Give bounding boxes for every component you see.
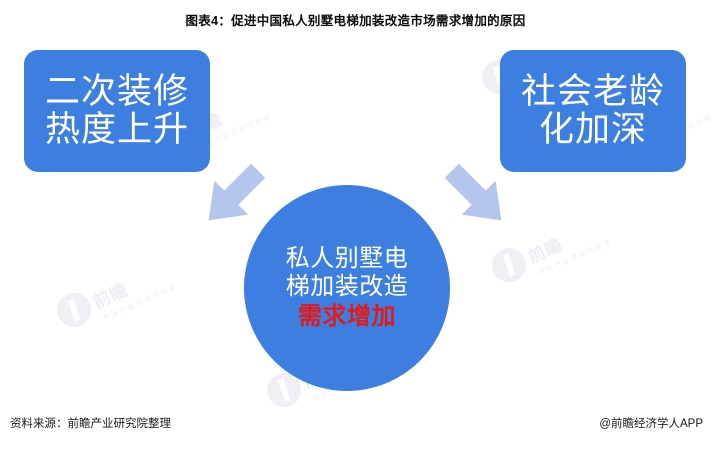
cause-box-right-line-2: 化加深 — [539, 111, 647, 149]
watermark-main-text: 前瞻 — [90, 280, 131, 312]
page-title: 图表4：促进中国私人别墅电梯加装改造市场需求增加的原因 — [0, 10, 711, 29]
watermark: 前瞻 中国产业咨询领跑者 — [52, 252, 180, 340]
center-line-1: 私人别墅电 — [286, 245, 409, 273]
watermark-logo-icon — [52, 288, 97, 333]
watermark: 前瞻 中国产业咨询领跑者 — [487, 207, 615, 295]
arrow-down-right-icon — [192, 160, 272, 235]
arrow-down-left-icon — [438, 160, 518, 235]
brand-credit: @前瞻经济学人APP — [599, 415, 703, 431]
watermark-main-text: 前瞻 — [525, 235, 566, 267]
diagram-canvas: 图表4：促进中国私人别墅电梯加装改造市场需求增加的原因 前瞻 中国产业咨询领跑者… — [0, 0, 711, 453]
watermark-sub-text: 中国产业咨询领跑者 — [536, 236, 614, 278]
cause-box-right: 社会老龄 化加深 — [500, 50, 686, 172]
cause-box-left: 二次装修 热度上升 — [24, 50, 210, 172]
cause-box-left-line-2: 热度上升 — [45, 111, 189, 149]
cause-box-right-line-1: 社会老龄 — [521, 73, 665, 111]
watermark-logo-icon — [487, 243, 532, 288]
source-note: 资料来源：前瞻产业研究院整理 — [10, 415, 171, 431]
watermark-sub-text: 中国产业咨询领跑者 — [101, 281, 179, 323]
center-result-circle: 私人别墅电 梯加装改造 需求增加 — [244, 185, 450, 391]
cause-box-left-line-1: 二次装修 — [45, 73, 189, 111]
center-line-2: 梯加装改造 — [286, 273, 409, 301]
center-highlight-text: 需求增加 — [298, 303, 396, 331]
